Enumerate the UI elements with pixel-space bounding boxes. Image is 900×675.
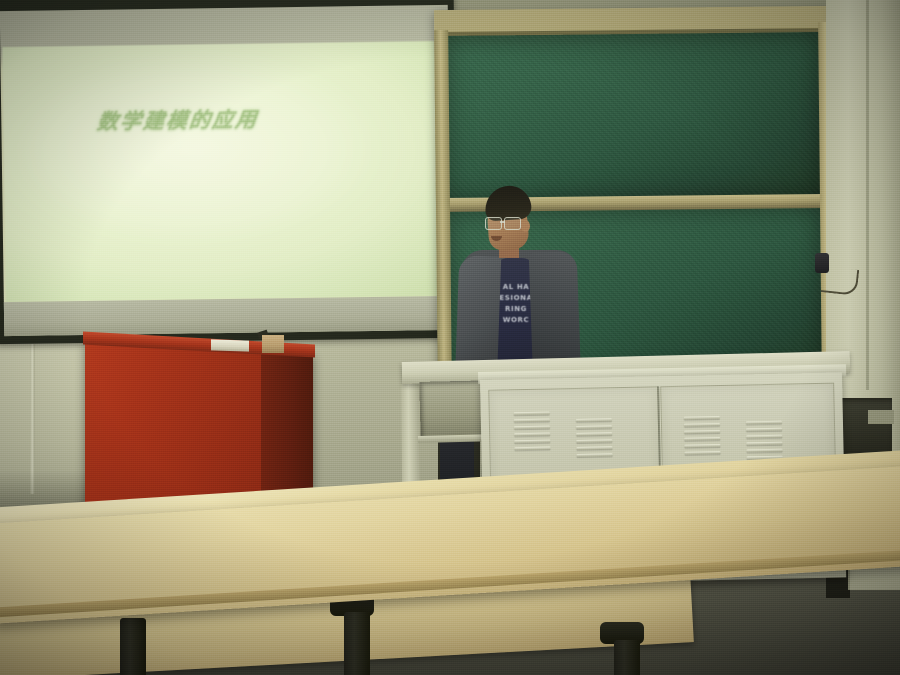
- speaker: AL HA ESIONA RING WORC: [455, 186, 585, 386]
- blackboard-panel-upper: [444, 32, 822, 200]
- podium-paper-stack: [211, 339, 249, 351]
- bench-leg: [120, 618, 146, 675]
- alcove-inner-block: [868, 410, 894, 424]
- glasses-right-lens: [504, 217, 521, 230]
- vent-slats: [746, 421, 783, 460]
- vent-slats: [514, 412, 551, 451]
- bench-leg: [344, 612, 370, 675]
- right-wall-seam: [866, 0, 869, 390]
- classroom-photo: 数学建模的应用 AL HA ESIONA RING WORC: [0, 0, 900, 675]
- podium-cardboard-box: [262, 335, 284, 353]
- speaker-hair: [484, 184, 532, 221]
- projection-screen: 数学建模的应用: [0, 0, 458, 344]
- glasses-left-lens: [485, 217, 502, 230]
- vent-slats: [684, 416, 721, 455]
- bench-leg: [614, 640, 640, 675]
- vent-slats: [576, 418, 613, 457]
- projected-slide: [2, 41, 438, 302]
- glasses-icon: [485, 217, 527, 228]
- screen-bottom-band: [4, 296, 452, 336]
